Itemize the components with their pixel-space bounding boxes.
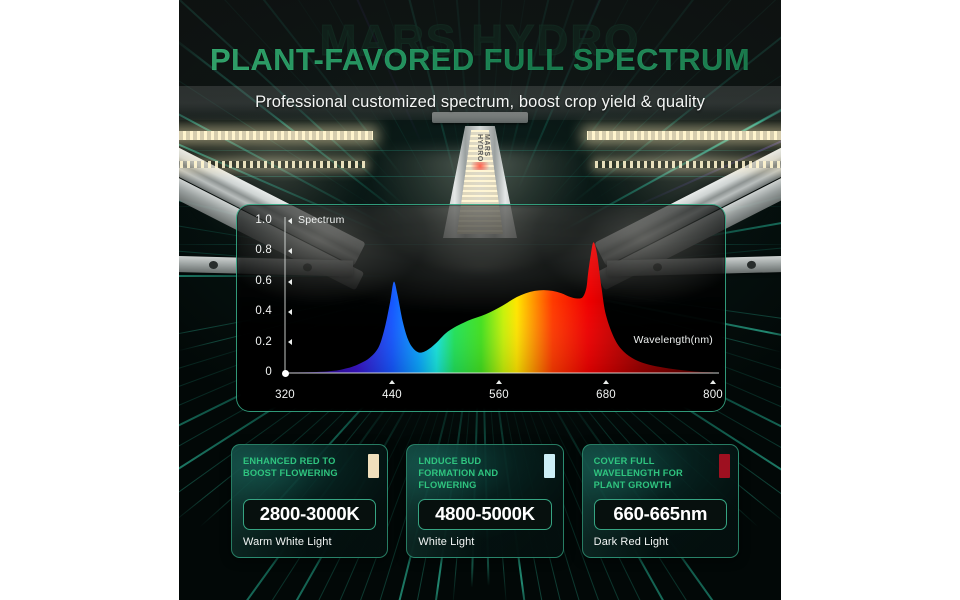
feature-card: COVER FULL WAVELENGTH FOR PLANT GROWTH66…	[582, 444, 739, 558]
x-tick-marker	[710, 380, 716, 384]
card-value-box: 4800-5000K	[418, 499, 551, 530]
y-tick-label: 0.6	[237, 275, 272, 287]
card-title: ENHANCED RED TO BOOST FLOWERING	[243, 456, 376, 492]
y-tick-marker	[288, 339, 292, 345]
x-tick-label: 800	[693, 389, 726, 401]
card-value-box: 660-665nm	[594, 499, 727, 530]
x-tick-label: 680	[586, 389, 626, 401]
card-value: 660-665nm	[599, 503, 722, 525]
feature-card: LNDUCE BUD FORMATION AND FLOWERING4800-5…	[406, 444, 563, 558]
spectrum-shade	[285, 242, 713, 373]
spectrum-chart-panel: 1.00.80.60.40.20320440560680800SpectrumW…	[236, 204, 726, 412]
y-tick-marker	[288, 248, 292, 254]
x-axis-title: Wavelength(nm)	[634, 334, 713, 346]
feature-cards: ENHANCED RED TO BOOST FLOWERING2800-3000…	[231, 444, 739, 558]
fixture-brand-mark: MARS HYDRO	[476, 134, 490, 176]
origin-dot	[282, 370, 289, 377]
feature-card: ENHANCED RED TO BOOST FLOWERING2800-3000…	[231, 444, 388, 558]
x-tick-label: 320	[265, 389, 305, 401]
x-tick-label: 440	[372, 389, 412, 401]
y-tick-marker	[288, 309, 292, 315]
y-tick-label: 0	[237, 366, 272, 378]
page-title: PLANT-FAVORED FULL SPECTRUM	[179, 42, 781, 78]
card-title: LNDUCE BUD FORMATION AND FLOWERING	[418, 456, 551, 492]
x-tick-marker	[603, 380, 609, 384]
y-tick-label: 0.8	[237, 244, 272, 256]
series-legend-label: Spectrum	[298, 214, 345, 226]
card-caption: Dark Red Light	[594, 536, 727, 548]
x-tick-marker	[496, 380, 502, 384]
card-value-box: 2800-3000K	[243, 499, 376, 530]
y-tick-label: 1.0	[237, 214, 272, 226]
promo-image-canvas: MARS HYDRO MARS HYDRO PLANT-FAVORED FULL…	[179, 0, 781, 600]
cool-white-swatch	[544, 454, 555, 478]
page-subtitle: Professional customized spectrum, boost …	[179, 93, 781, 112]
dark-red-swatch	[719, 454, 730, 478]
x-tick-marker	[389, 380, 395, 384]
y-tick-marker	[288, 279, 292, 285]
y-tick-label: 0.4	[237, 305, 272, 317]
card-title: COVER FULL WAVELENGTH FOR PLANT GROWTH	[594, 456, 727, 492]
spectrum-plot: 1.00.80.60.40.20320440560680800SpectrumW…	[237, 205, 725, 411]
card-value: 2800-3000K	[248, 503, 371, 525]
card-value: 4800-5000K	[423, 503, 546, 525]
x-tick-label: 560	[479, 389, 519, 401]
warm-white-swatch	[368, 454, 379, 478]
y-tick-label: 0.2	[237, 336, 272, 348]
series-legend-marker	[288, 218, 292, 224]
card-caption: Warm White Light	[243, 536, 376, 548]
card-caption: White Light	[418, 536, 551, 548]
